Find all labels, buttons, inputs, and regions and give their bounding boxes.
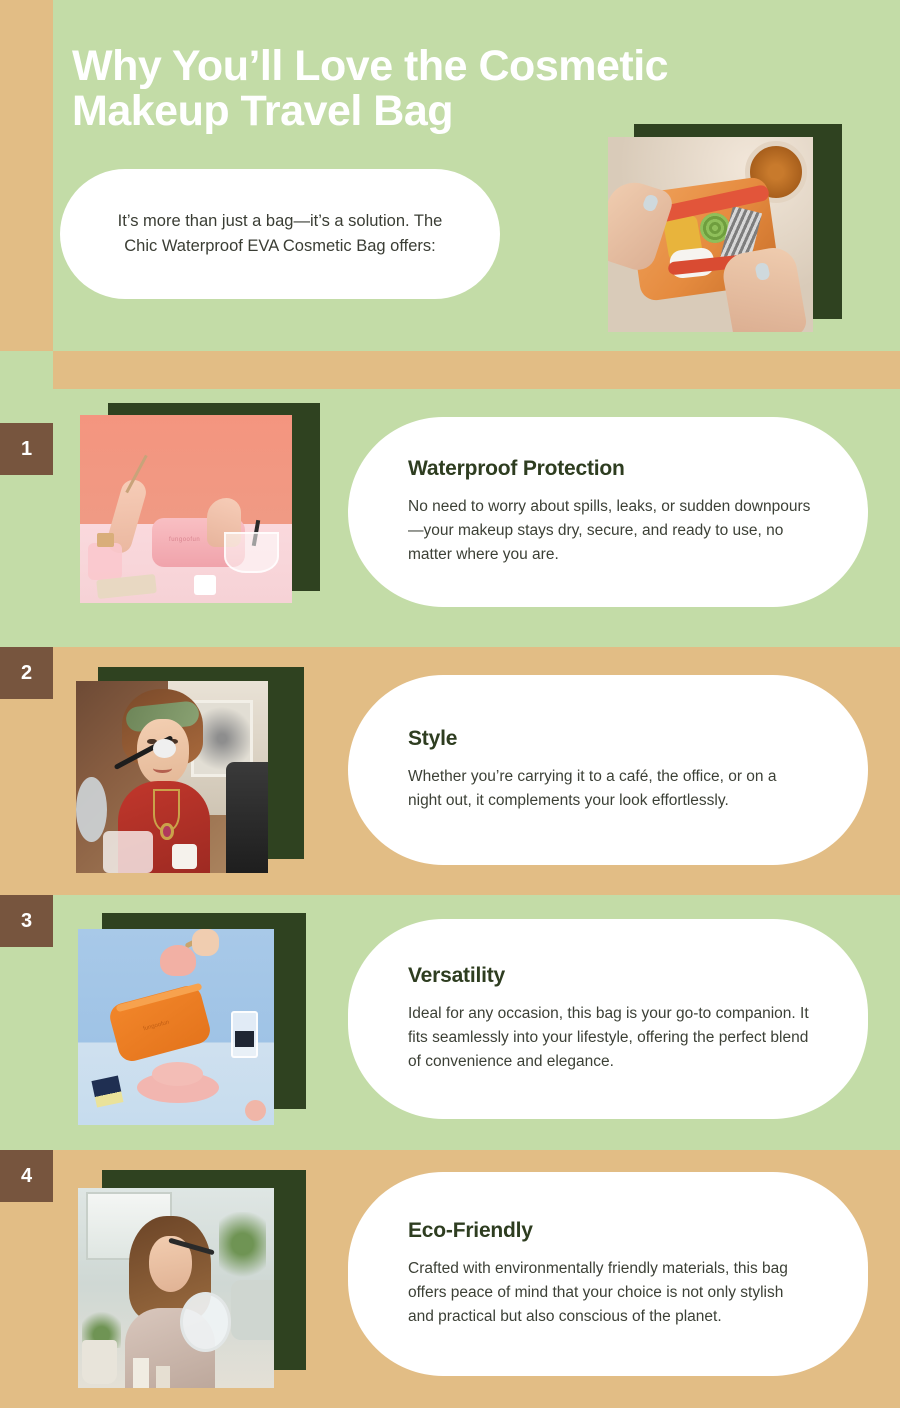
feature-image-2 <box>76 681 268 873</box>
feature-image-frame-3: fungoofun <box>78 913 306 1125</box>
feature-card-1: Waterproof Protection No need to worry a… <box>348 417 868 607</box>
feature-row-4: 4 Eco-Friendly Crafted with environmenta… <box>0 1150 900 1408</box>
feature-body-3: Ideal for any occasion, this bag is your… <box>408 1002 812 1074</box>
feature-row-2: 2 Style Whether you’re carrying it to a … <box>0 647 900 895</box>
feature-title-1: Waterproof Protection <box>408 457 812 481</box>
feature-number-1: 1 <box>21 438 32 461</box>
hero-image-frame <box>608 124 842 332</box>
feature-number-badge-1: 1 <box>0 423 53 475</box>
feature-title-3: Versatility <box>408 964 812 988</box>
feature-body-2: Whether you’re carrying it to a café, th… <box>408 765 812 813</box>
feature-number-badge-3: 3 <box>0 895 53 947</box>
feature-title-2: Style <box>408 727 812 751</box>
intro-text: It’s more than just a bag—it’s a solutio… <box>104 209 456 259</box>
feature-title-4: Eco-Friendly <box>408 1219 812 1243</box>
feature-card-2: Style Whether you’re carrying it to a ca… <box>348 675 868 865</box>
feature-image-4 <box>78 1188 274 1388</box>
page-title: Why You’ll Love the Cosmetic Makeup Trav… <box>72 44 832 134</box>
feature-card-4: Eco-Friendly Crafted with environmentall… <box>348 1172 868 1376</box>
feature-image-1: fungoofun <box>80 415 292 603</box>
feature-number-3: 3 <box>21 910 32 933</box>
intro-callout: It’s more than just a bag—it’s a solutio… <box>60 169 500 299</box>
feature-row-3: 3 fungoofun Versatility Ideal for any oc… <box>0 895 900 1150</box>
divider-band <box>53 351 900 389</box>
header-section: Why You’ll Love the Cosmetic Makeup Trav… <box>0 0 900 351</box>
feature-image-frame-2 <box>76 667 304 873</box>
divider-left-strip <box>0 351 53 389</box>
feature-image-frame-1: fungoofun <box>80 403 320 603</box>
hero-image <box>608 137 813 332</box>
feature-image-frame-4 <box>78 1170 306 1388</box>
feature-card-3: Versatility Ideal for any occasion, this… <box>348 919 868 1119</box>
header-left-strip <box>0 0 53 351</box>
infographic-page: Why You’ll Love the Cosmetic Makeup Trav… <box>0 0 900 1408</box>
feature-row-1: 1 fungoofun Waterproof Protection No nee… <box>0 389 900 647</box>
feature-image-3: fungoofun <box>78 929 274 1125</box>
feature-number-badge-4: 4 <box>0 1150 53 1202</box>
feature-number-badge-2: 2 <box>0 647 53 699</box>
feature-body-4: Crafted with environmentally friendly ma… <box>408 1257 812 1329</box>
feature-body-1: No need to worry about spills, leaks, or… <box>408 495 812 567</box>
feature-number-2: 2 <box>21 662 32 685</box>
feature-number-4: 4 <box>21 1165 32 1188</box>
